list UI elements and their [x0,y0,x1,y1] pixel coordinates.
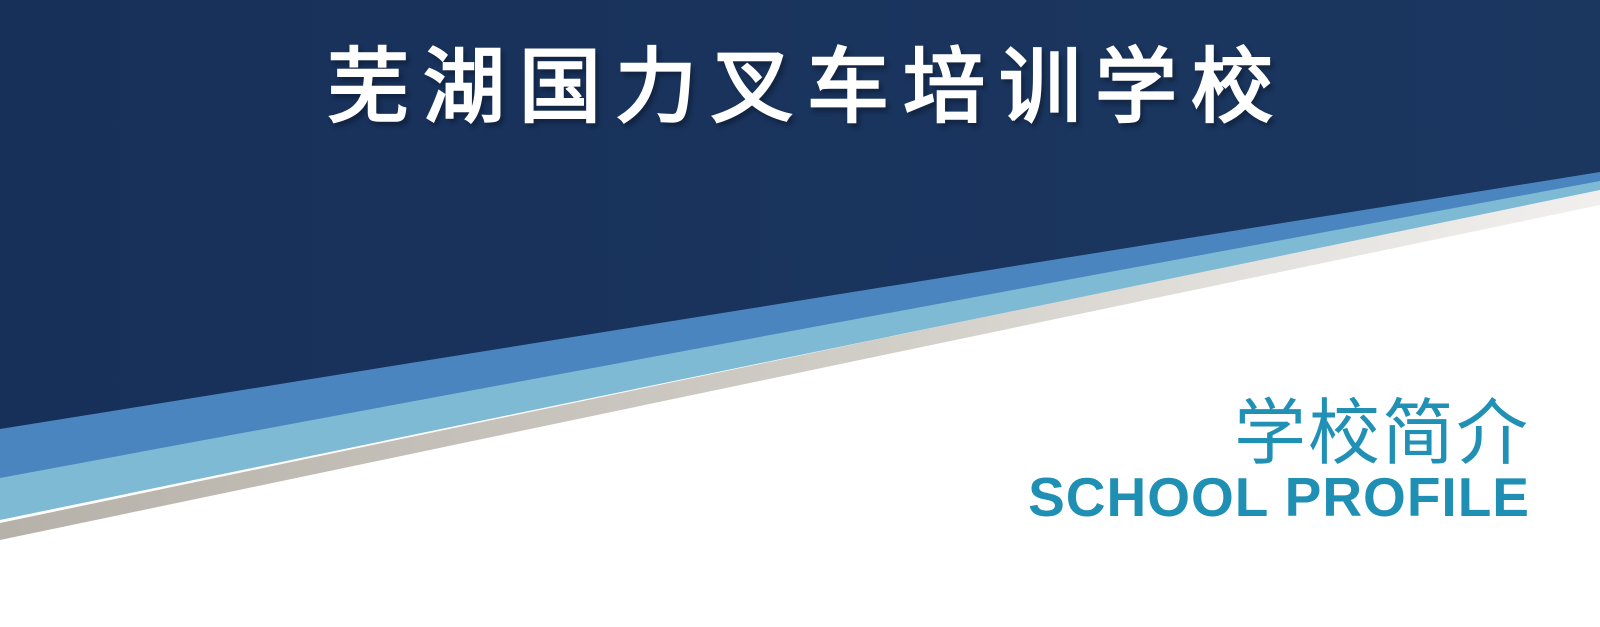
section-heading-group: 学校简介 SCHOOL PROFILE [1028,398,1530,527]
title-zone: 芜湖国力叉车培训学校 [0,0,1600,175]
page-title: 芜湖国力叉车培训学校 [313,47,1287,129]
slide-canvas: 芜湖国力叉车培训学校 学校简介 SCHOOL PROFILE 芜湖市国力叉车职业… [0,0,1600,627]
section-heading-english: SCHOOL PROFILE [1028,469,1530,527]
section-heading-chinese: 学校简介 [1028,398,1530,471]
